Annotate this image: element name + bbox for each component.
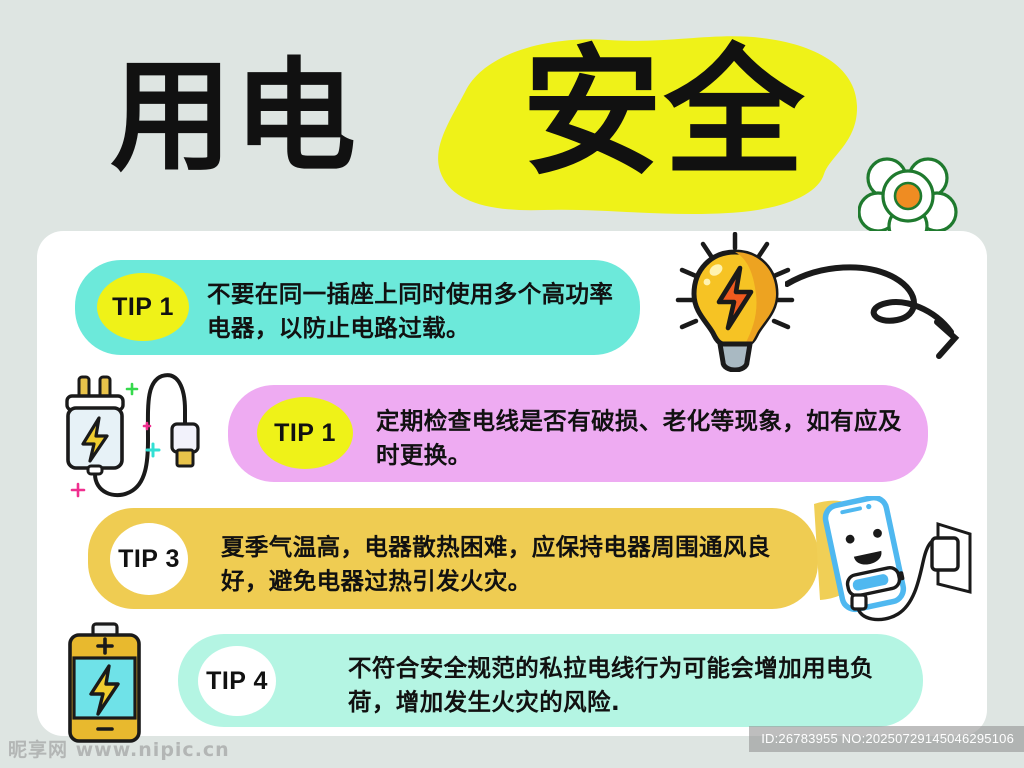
tip-text-2: 定期检查电线是否有破损、老化等现象，如有应及时更换。 xyxy=(376,404,911,472)
tip-row-1[interactable]: TIP 1 不要在同一插座上同时使用多个高功率电器，以防止电路过载。 xyxy=(75,260,640,355)
poster-root: 用电 安全 TIP 1 不要在同一插座上同时使用多个高功率电器，以防止电路过载。 xyxy=(0,0,1024,768)
curved-arrow-icon xyxy=(785,262,990,377)
tip-badge-4: TIP 4 xyxy=(198,646,276,716)
page-title-part2: 安全 xyxy=(522,44,806,184)
tip-badge-1: TIP 1 xyxy=(97,273,189,341)
tip-text-4: 不符合安全规范的私拉电线行为可能会增加用电负荷，增加发生火灾的风险. xyxy=(348,651,898,719)
poster-header: 用电 安全 xyxy=(0,0,1024,230)
tip-text-1: 不要在同一插座上同时使用多个高功率电器，以防止电路过载。 xyxy=(207,277,625,345)
id-watermark: ID:26783955 NO:20250729145046295106 xyxy=(749,726,1024,752)
battery-icon xyxy=(62,622,147,744)
page-title-part1: 用电 xyxy=(110,56,358,178)
tip-text-3: 夏季气温高，电器散热困难，应保持电器周围通风良好，避免电器过热引发火灾。 xyxy=(221,530,801,598)
tip-badge-3: TIP 3 xyxy=(110,523,188,595)
phone-charging-icon xyxy=(812,496,977,626)
tip-row-3[interactable]: TIP 3 夏季气温高，电器散热困难，应保持电器周围通风良好，避免电器过热引发火… xyxy=(88,508,818,609)
tip-badge-2: TIP 1 xyxy=(257,397,353,469)
charger-plug-icon xyxy=(52,366,217,506)
site-watermark: 昵享网 www.nipic.cn xyxy=(8,735,230,762)
tip-row-2[interactable]: TIP 1 定期检查电线是否有破损、老化等现象，如有应及时更换。 xyxy=(228,385,928,482)
tip-row-4[interactable]: TIP 4 不符合安全规范的私拉电线行为可能会增加用电负荷，增加发生火灾的风险. xyxy=(178,634,923,727)
